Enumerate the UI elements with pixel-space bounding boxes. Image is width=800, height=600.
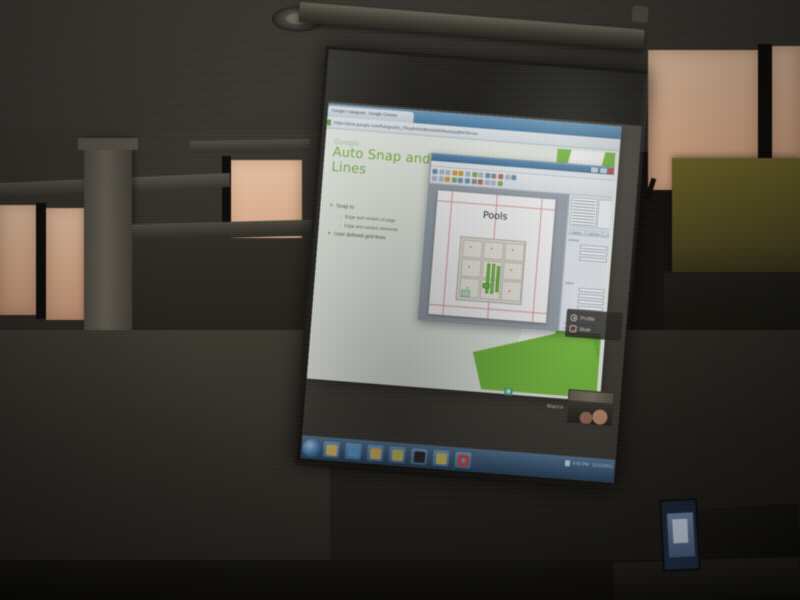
taskbar-item-folder[interactable]: [367, 445, 384, 462]
menu-item-label: Mute: [579, 326, 591, 333]
panel-input[interactable]: [578, 294, 604, 300]
shape-icon[interactable]: [498, 174, 503, 179]
panel-input[interactable]: [580, 245, 608, 251]
diagram-canvas[interactable]: Pools: [419, 184, 569, 333]
https-lock-icon: [325, 119, 331, 125]
canvas-page[interactable]: Pools: [428, 190, 555, 323]
panel-input[interactable]: [579, 251, 607, 257]
mic-muted-icon: [569, 325, 577, 333]
taskbar-item-editor[interactable]: [432, 450, 449, 467]
taskbar-item-chrome[interactable]: [454, 451, 471, 468]
align-center-icon[interactable]: [438, 176, 443, 181]
window-mullion: [36, 203, 46, 319]
element-preview: [596, 199, 613, 230]
line-color-icon[interactable]: [451, 177, 456, 182]
tab-explorer[interactable]: Explorer: [569, 229, 585, 235]
cut-icon[interactable]: [465, 171, 470, 176]
projection-screen: Google+ Hangouts - Google Chrome https:/…: [293, 46, 647, 488]
line-icon[interactable]: [505, 174, 510, 179]
laptop-base: [613, 557, 800, 600]
undo-icon[interactable]: [452, 170, 457, 175]
layer-icon[interactable]: [491, 180, 496, 185]
grid-icon[interactable]: [491, 173, 496, 178]
laptop-screen: [659, 498, 701, 572]
start-button[interactable]: [302, 438, 321, 457]
network-icon[interactable]: [564, 460, 569, 466]
pools-diagram[interactable]: [455, 236, 526, 305]
clock-time[interactable]: 4:01 PM: [572, 461, 589, 468]
window: [0, 205, 36, 315]
ceiling-beam: [190, 139, 310, 153]
presentation-slide: Google Auto Snap and Guide Lines Snap to…: [305, 130, 615, 398]
element-tree-list[interactable]: [570, 197, 598, 229]
panel-group-general: General: [568, 238, 610, 245]
panel-input[interactable]: [579, 257, 607, 263]
column-cap: [78, 138, 138, 150]
participant-name: Marco: [547, 403, 564, 410]
system-tray[interactable]: 4:01 PM 11/11/2011: [564, 460, 613, 470]
connector-icon[interactable]: [458, 178, 463, 183]
paste-icon[interactable]: [478, 172, 483, 177]
chrome-window[interactable]: Google+ Hangouts - Google Chrome https:/…: [301, 103, 622, 402]
panel-input[interactable]: [578, 300, 604, 306]
maximize-button[interactable]: [599, 168, 606, 174]
roller-end-cap: [631, 5, 648, 22]
group-icon[interactable]: [478, 179, 483, 184]
text-icon[interactable]: [511, 175, 516, 180]
zoom-icon[interactable]: [485, 173, 490, 178]
new-icon[interactable]: [432, 169, 437, 174]
taskbar-item-notes[interactable]: [389, 446, 406, 463]
menu-item-label: Profile: [580, 315, 595, 322]
taskbar-item-explorer[interactable]: [323, 441, 340, 458]
minimize-button[interactable]: [591, 167, 598, 173]
copy-icon[interactable]: [472, 172, 477, 177]
screen-surface: Google+ Hangouts - Google Chrome https:/…: [293, 46, 647, 488]
diagram-editor-window[interactable]: Pools: [418, 153, 616, 335]
person-icon: [570, 314, 578, 322]
taskbar-item-media-player[interactable]: [345, 443, 362, 460]
save-icon[interactable]: [445, 170, 450, 175]
taskbar-item-terminal[interactable]: [410, 448, 427, 465]
guides-icon[interactable]: [471, 179, 476, 184]
window: [46, 208, 84, 320]
fill-color-icon[interactable]: [445, 177, 450, 182]
tab-elements[interactable]: Elements: [586, 230, 603, 236]
panel-radio-row[interactable]: [567, 264, 609, 267]
screen-share-icon[interactable]: [504, 388, 513, 396]
wooden-panel: [672, 158, 800, 278]
open-icon[interactable]: [439, 169, 444, 174]
panel-tabs[interactable]: Explorer Elements Properties: [568, 229, 612, 238]
rotate-icon[interactable]: [484, 180, 489, 185]
participant-video-thumbnail[interactable]: [566, 389, 615, 427]
close-button[interactable]: [608, 169, 615, 175]
panel-group-layout: Layout: [565, 281, 607, 288]
snap-icon[interactable]: [465, 178, 470, 183]
hangout-context-menu[interactable]: Profile Mute: [565, 309, 623, 341]
room-photo-scene: Google+ Hangouts - Google Chrome https:/…: [0, 0, 800, 600]
export-icon[interactable]: [497, 181, 502, 186]
align-left-icon[interactable]: [432, 176, 437, 181]
redo-icon[interactable]: [459, 171, 464, 176]
browser-viewport: Google Auto Snap and Guide Lines Snap to…: [301, 128, 620, 402]
projected-desktop: Google+ Hangouts - Google Chrome https:/…: [301, 101, 642, 483]
panel-input[interactable]: [579, 288, 605, 294]
clock-date[interactable]: 11/11/2011: [592, 462, 613, 470]
laptop-screen-content: [667, 512, 695, 557]
